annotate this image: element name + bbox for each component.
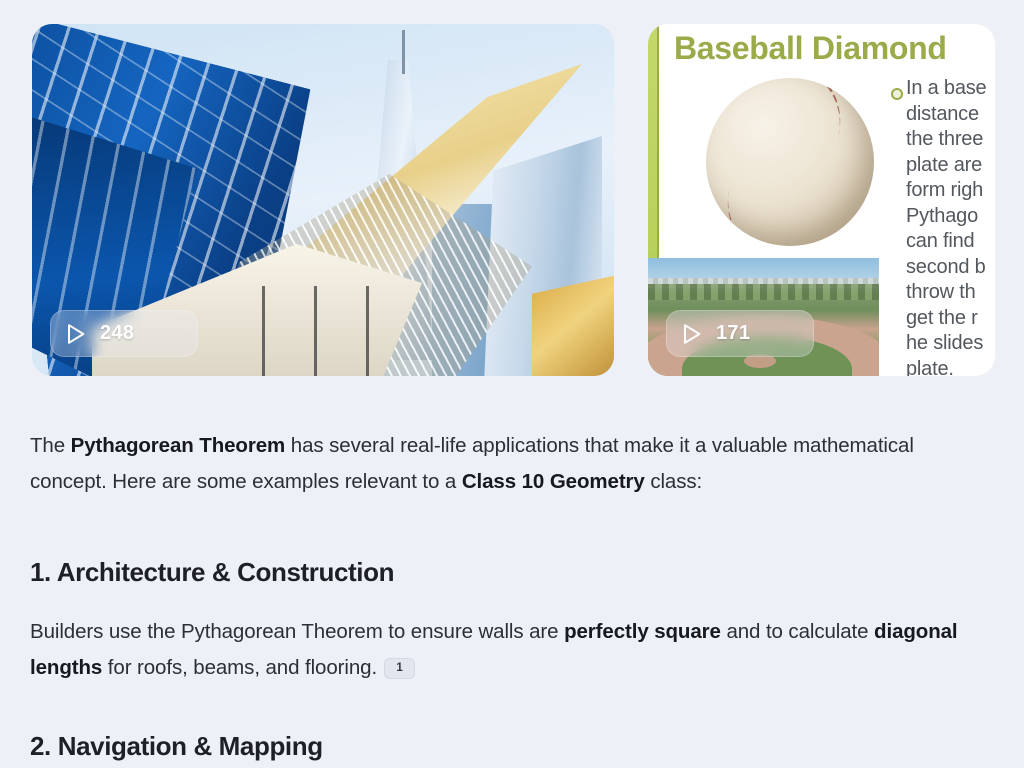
play-count-label: 171 [716,322,750,345]
intro-text-3: class: [645,470,702,493]
slide-bullet-line: second b [906,255,995,281]
slide-bullet-line: can find [906,229,995,255]
baseball-image [706,78,874,246]
slide-bullet-line: In a base [906,76,995,102]
tower-spire [402,30,405,74]
spacer [30,588,982,614]
spacer [30,686,982,730]
section-heading-architecture: 1. Architecture & Construction [30,556,982,588]
section-text-1: Builders use the Pythagorean Theorem to … [30,620,564,643]
play-triangle-icon [681,322,703,346]
article-page: 248 Baseball Diamond In a base distance … [0,0,1024,768]
play-count-badge[interactable]: 171 [666,310,814,357]
street-posts [262,286,402,376]
baseball-diamond-video-thumbnail[interactable]: Baseball Diamond In a base distance the … [648,24,995,376]
slide-bullet-line: plate. [906,357,995,377]
slide-title: Baseball Diamond [674,30,947,67]
citation-badge[interactable]: 1 [384,658,415,679]
play-triangle-icon [65,322,87,346]
slide-bullet-line: get the r [906,306,995,332]
section-text-3: for roofs, beams, and flooring. [102,656,377,679]
intro-bold-class-10-geometry: Class 10 Geometry [462,470,645,493]
slide-bullet-line: form righ [906,178,995,204]
intro-paragraph: The Pythagorean Theorem has several real… [30,428,982,500]
video-thumbnail-row: 248 Baseball Diamond In a base distance … [32,24,1024,376]
section-text-2: and to calculate [721,620,874,643]
slide-bullet-line: Pythago [906,204,995,230]
slide-bullet-text: In a base distance the three plate are f… [906,76,995,376]
spacer [30,500,982,556]
intro-bold-pythagorean-theorem: Pythagorean Theorem [71,434,286,457]
field-treeline [648,284,879,300]
slide-bullet-line: he slides [906,331,995,357]
play-count-label: 248 [100,322,134,345]
slide-bullet-line: plate are [906,153,995,179]
slide-bullet-icon [891,88,903,100]
section-bold-perfectly-square: perfectly square [564,620,721,643]
article-content: The Pythagorean Theorem has several real… [30,428,982,762]
section-body-architecture: Builders use the Pythagorean Theorem to … [30,614,982,686]
intro-text-1: The [30,434,71,457]
architecture-video-thumbnail[interactable]: 248 [32,24,614,376]
slide-bullet-line: throw th [906,280,995,306]
play-count-badge[interactable]: 248 [50,310,198,357]
slide-bullet-line: distance [906,102,995,128]
section-heading-navigation: 2. Navigation & Mapping [30,730,982,762]
slide-bullet-line: the three [906,127,995,153]
